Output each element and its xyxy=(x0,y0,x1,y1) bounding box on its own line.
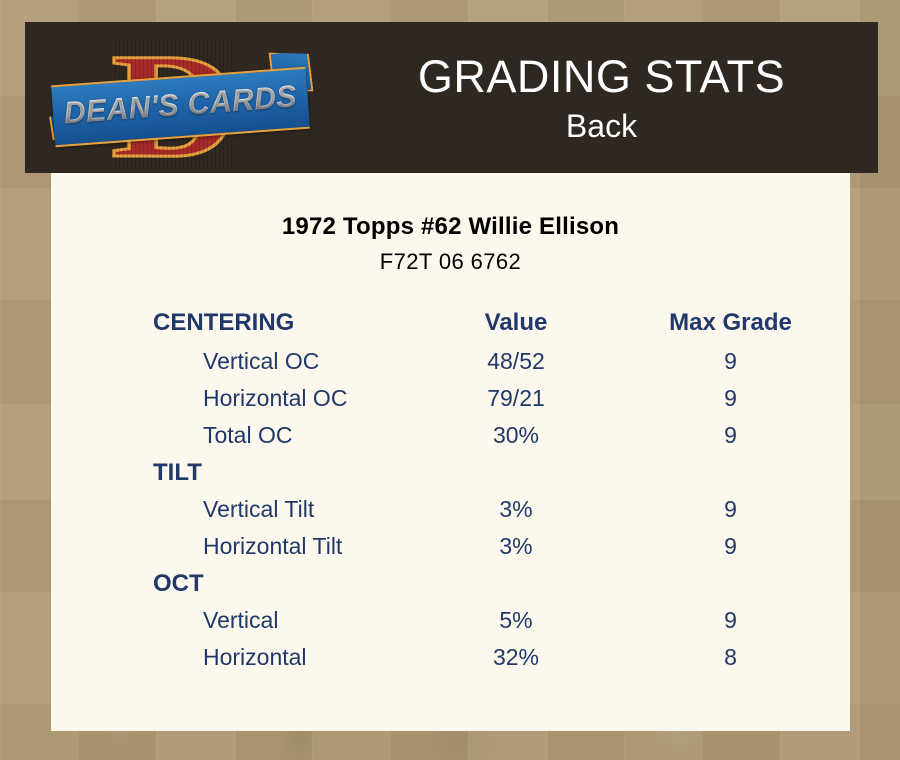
column-header-section: CENTERING xyxy=(51,309,421,343)
grading-stats-table: CENTERING Value Max Grade Vertical OC48/… xyxy=(51,309,850,676)
stat-value: 48/52 xyxy=(421,343,611,380)
stat-value: 79/21 xyxy=(421,380,611,417)
content-panel: 1972 Topps #62 Willie Ellison F72T 06 67… xyxy=(51,173,850,731)
table-row: Total OC30%9 xyxy=(51,417,850,454)
stat-label: Horizontal Tilt xyxy=(51,528,421,565)
stat-value: 5% xyxy=(421,602,611,639)
section-grade-spacer xyxy=(611,565,850,602)
stat-value: 3% xyxy=(421,528,611,565)
section-header-row: TILT xyxy=(51,454,850,491)
stat-label: Horizontal OC xyxy=(51,380,421,417)
stat-label: Vertical OC xyxy=(51,343,421,380)
page-subtitle: Back xyxy=(566,106,637,146)
stat-label: Vertical xyxy=(51,602,421,639)
stat-max-grade: 9 xyxy=(611,602,850,639)
stat-label: Vertical Tilt xyxy=(51,491,421,528)
logo-wordmark-text: DEAN'S CARDS xyxy=(63,78,299,131)
section-grade-spacer xyxy=(611,454,850,491)
column-header-max-grade: Max Grade xyxy=(611,309,850,343)
stat-max-grade: 8 xyxy=(611,639,850,676)
table-row: Horizontal OC79/219 xyxy=(51,380,850,417)
section-value-spacer xyxy=(421,565,611,602)
section-name: TILT xyxy=(51,454,421,491)
header-bar: D DEAN'S CARDS GRADING STATS Back xyxy=(25,22,878,173)
stat-label: Total OC xyxy=(51,417,421,454)
stat-label: Horizontal xyxy=(51,639,421,676)
page-title: GRADING STATS xyxy=(418,50,785,104)
stats-table-header: CENTERING Value Max Grade xyxy=(51,309,850,343)
stat-value: 30% xyxy=(421,417,611,454)
stat-max-grade: 9 xyxy=(611,491,850,528)
table-row: Horizontal Tilt3%9 xyxy=(51,528,850,565)
stat-max-grade: 9 xyxy=(611,343,850,380)
deans-cards-logo[interactable]: D DEAN'S CARDS xyxy=(53,24,313,172)
table-row: Horizontal32%8 xyxy=(51,639,850,676)
table-row: Vertical OC48/529 xyxy=(51,343,850,380)
table-header-row: CENTERING Value Max Grade xyxy=(51,309,850,343)
header-title-group: GRADING STATS Back xyxy=(325,22,878,173)
section-name: OCT xyxy=(51,565,421,602)
logo-wordmark: DEAN'S CARDS xyxy=(51,67,310,144)
stat-max-grade: 9 xyxy=(611,417,850,454)
stat-max-grade: 9 xyxy=(611,528,850,565)
section-value-spacer xyxy=(421,454,611,491)
section-header-row: OCT xyxy=(51,565,850,602)
stat-value: 32% xyxy=(421,639,611,676)
column-header-value: Value xyxy=(421,309,611,343)
stat-max-grade: 9 xyxy=(611,380,850,417)
card-title: 1972 Topps #62 Willie Ellison xyxy=(51,213,850,241)
table-row: Vertical5%9 xyxy=(51,602,850,639)
stat-value: 3% xyxy=(421,491,611,528)
stats-table-body: Vertical OC48/529Horizontal OC79/219Tota… xyxy=(51,343,850,676)
card-serial-number: F72T 06 6762 xyxy=(51,249,850,275)
table-row: Vertical Tilt3%9 xyxy=(51,491,850,528)
